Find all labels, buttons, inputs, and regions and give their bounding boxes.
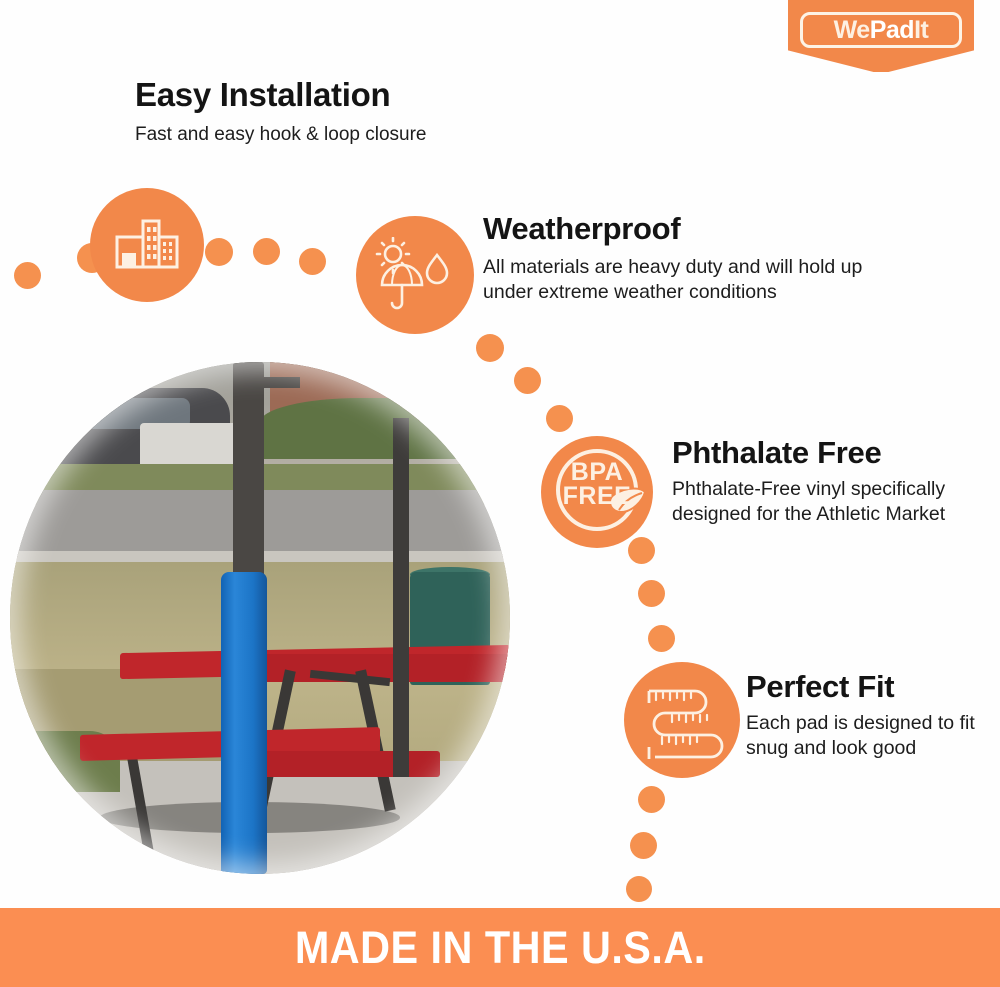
trail-dot <box>648 625 675 652</box>
trail-dot <box>626 876 652 902</box>
feature-description: Phthalate-Free vinyl specifically design… <box>672 477 972 528</box>
trail-dot <box>205 238 233 266</box>
bpa-icon-text-line2: FREE <box>541 484 653 508</box>
trail-dot <box>253 238 280 265</box>
feature-icon-weatherproof[interactable] <box>356 216 474 334</box>
feature-icon-perfect-fit[interactable] <box>624 662 740 778</box>
logo-text-pad: Pad <box>870 18 914 43</box>
feature-icon-phthalate-free[interactable]: BPA FREE <box>541 436 653 548</box>
feature-title: Perfect Fit <box>746 671 986 704</box>
made-in-usa-banner: MADE IN THE U.S.A. <box>0 908 1000 987</box>
logo-text-it: It <box>914 18 928 43</box>
trail-dot <box>514 367 541 394</box>
feature-text-phthalate-free: Phthalate Free Phthalate-Free vinyl spec… <box>672 437 972 528</box>
feature-title: Phthalate Free <box>672 437 972 470</box>
trail-dot <box>14 262 41 289</box>
infographic-page: WePadIt <box>0 0 1000 987</box>
feature-description: All materials are heavy duty and will ho… <box>483 255 913 306</box>
feature-text-weatherproof: Weatherproof All materials are heavy dut… <box>483 213 913 306</box>
feature-description: Fast and easy hook & loop closure <box>135 122 555 147</box>
trail-dot <box>476 334 504 362</box>
feature-title: Easy Installation <box>135 78 555 113</box>
trail-dot <box>299 248 326 275</box>
measuring-tape-icon <box>639 677 725 763</box>
bpa-icon-text-line1: BPA <box>541 460 653 484</box>
trail-dot <box>546 405 573 432</box>
brand-logo[interactable]: WePadIt <box>788 0 974 72</box>
trail-dot <box>638 786 665 813</box>
feature-icon-easy-installation[interactable] <box>90 188 204 302</box>
logo-text-we: We <box>834 18 870 43</box>
trail-dot <box>638 580 665 607</box>
umbrella-sun-rain-icon <box>374 237 456 313</box>
feature-title: Weatherproof <box>483 213 913 246</box>
building-icon <box>113 215 181 275</box>
trail-dot <box>630 832 657 859</box>
feature-description: Each pad is designed to fit snug and loo… <box>746 711 986 762</box>
feature-text-easy-installation: Easy Installation Fast and easy hook & l… <box>135 78 555 147</box>
blue-pole-pad <box>221 572 267 874</box>
made-in-usa-text: MADE IN THE U.S.A. <box>295 922 706 974</box>
product-photo <box>10 362 510 874</box>
feature-text-perfect-fit: Perfect Fit Each pad is designed to fit … <box>746 671 986 762</box>
bpa-free-leaf-icon: BPA FREE <box>541 436 653 548</box>
logo-frame: WePadIt <box>800 12 962 48</box>
